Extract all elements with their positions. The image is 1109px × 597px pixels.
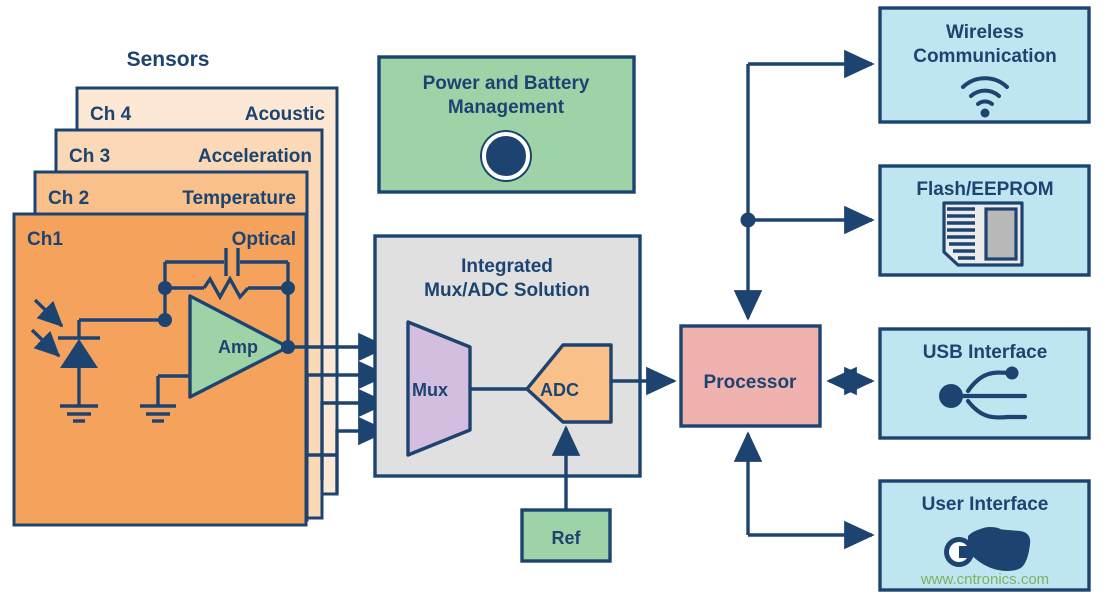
peripheral-ui-line1: User Interface: [922, 494, 1049, 515]
mux-symbol: Mux: [408, 322, 470, 455]
sensor-card-ch1-channel: Ch1: [27, 229, 63, 250]
amplifier-label: Amp: [218, 337, 258, 357]
peripheral-flash-line1: Flash/EEPROM: [916, 179, 1053, 200]
sensor-card-ch4-type: Acoustic: [245, 104, 326, 125]
reference-block[interactable]: Ref: [522, 510, 610, 561]
peripheral-ui-block[interactable]: User Interface www.cntronics.com: [880, 481, 1089, 590]
bus-junction-dot: [741, 213, 756, 228]
diagram-canvas: Sensors Ch 4 Acoustic Ch 3 Acceleration …: [0, 0, 1109, 597]
battery-coin-cell-icon: [480, 130, 532, 182]
processor-block[interactable]: Processor: [681, 326, 820, 426]
adc-label: ADC: [540, 380, 579, 400]
processor-label: Processor: [704, 372, 798, 393]
peripheral-wireless-line2: Communication: [913, 46, 1057, 67]
sensor-card-ch4-channel: Ch 4: [90, 104, 132, 125]
mux-label: Mux: [412, 380, 448, 400]
peripheral-wireless-block[interactable]: Wireless Communication: [880, 8, 1089, 122]
sensor-card-ch2-type: Temperature: [182, 188, 296, 209]
sensors-heading: Sensors: [127, 48, 210, 71]
sensor-card-ch1-type: Optical: [232, 229, 296, 250]
power-block-line2: Management: [448, 97, 565, 118]
sensor-card-ch3-channel: Ch 3: [69, 146, 110, 167]
sensor-card-ch2-channel: Ch 2: [48, 188, 89, 209]
mux-adc-line2: Mux/ADC Solution: [424, 280, 590, 301]
peripheral-usb-line1: USB Interface: [923, 342, 1048, 363]
sensor-card-ch3-type: Acceleration: [198, 146, 312, 167]
sd-card-icon: [944, 203, 1022, 265]
peripheral-wireless-line1: Wireless: [946, 22, 1024, 43]
power-battery-block[interactable]: Power and Battery Management: [379, 57, 634, 192]
watermark: www.cntronics.com: [920, 571, 1049, 588]
power-block-line1: Power and Battery: [423, 73, 590, 94]
peripheral-flash-block[interactable]: Flash/EEPROM: [880, 166, 1089, 275]
reference-label: Ref: [551, 528, 581, 548]
mux-adc-line1: Integrated: [461, 256, 553, 277]
peripheral-usb-block[interactable]: USB Interface: [880, 329, 1089, 438]
